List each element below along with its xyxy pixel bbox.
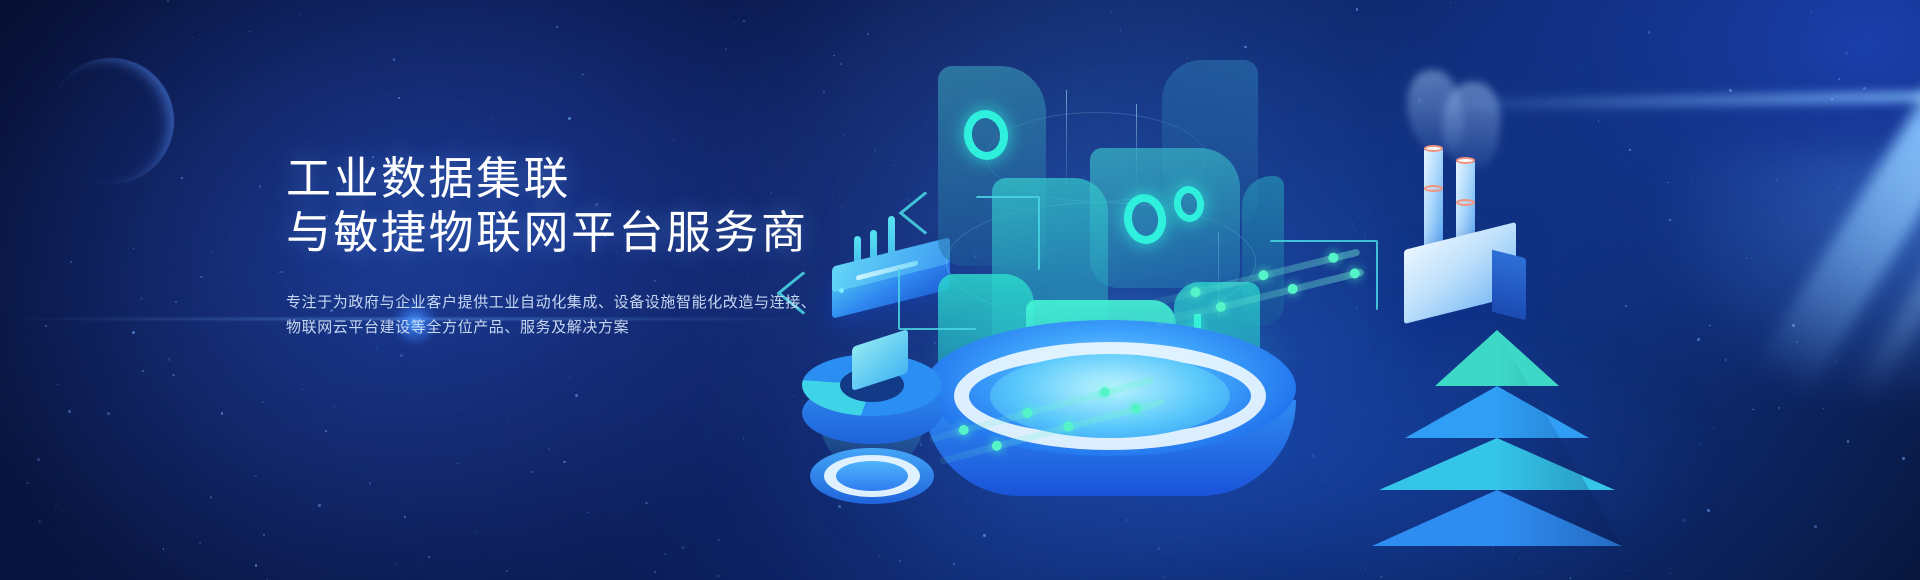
star bbox=[743, 20, 745, 22]
star bbox=[725, 48, 727, 50]
star bbox=[168, 358, 170, 360]
star bbox=[743, 438, 744, 439]
crescent-arc-icon bbox=[48, 58, 174, 184]
hero-subtitle: 专注于为政府与企业客户提供工业自动化集成、设备设施智能化改造与连接、 物联网云平… bbox=[286, 290, 926, 340]
star bbox=[198, 501, 199, 502]
star bbox=[491, 117, 492, 118]
star bbox=[199, 542, 201, 544]
headline-line-2: 与敏捷物联网平台服务商 bbox=[286, 207, 809, 258]
star bbox=[55, 505, 57, 507]
stepped-pyramid bbox=[1372, 330, 1622, 580]
star bbox=[673, 140, 674, 141]
headline-line-1: 工业数据集联 bbox=[286, 153, 571, 204]
page-title: 工业数据集联 与敏捷物联网平台服务商 bbox=[286, 152, 926, 260]
star bbox=[57, 384, 58, 385]
star bbox=[172, 374, 175, 377]
star bbox=[68, 410, 71, 413]
star bbox=[163, 548, 164, 549]
hero-banner: 工业数据集联 与敏捷物联网平台服务商 专注于为政府与企业客户提供工业自动化集成、… bbox=[0, 0, 1920, 580]
hero-copy: 工业数据集联 与敏捷物联网平台服务商 专注于为政府与企业客户提供工业自动化集成、… bbox=[286, 152, 926, 340]
star bbox=[279, 272, 280, 273]
platform-disc bbox=[924, 320, 1296, 496]
star bbox=[107, 412, 110, 415]
star bbox=[575, 394, 578, 397]
star bbox=[221, 412, 223, 414]
star bbox=[212, 251, 214, 253]
star bbox=[734, 22, 735, 23]
star bbox=[263, 534, 265, 536]
smokestack-band-2 bbox=[1456, 199, 1475, 206]
star bbox=[70, 261, 72, 263]
star bbox=[37, 458, 39, 460]
star bbox=[346, 40, 347, 41]
star bbox=[175, 301, 176, 302]
star bbox=[262, 401, 263, 402]
star bbox=[80, 218, 81, 219]
star bbox=[664, 553, 666, 555]
star bbox=[333, 406, 335, 408]
star bbox=[548, 448, 550, 450]
star bbox=[393, 58, 395, 60]
sensor-pad-core bbox=[836, 461, 908, 491]
smokestack-cap-2 bbox=[1456, 157, 1475, 164]
star bbox=[254, 475, 257, 478]
star bbox=[428, 556, 430, 558]
smokestack-band-1 bbox=[1424, 185, 1443, 192]
star bbox=[476, 531, 477, 532]
star bbox=[718, 539, 720, 541]
pie-chart-widget bbox=[802, 336, 942, 466]
star bbox=[210, 496, 213, 499]
star bbox=[545, 549, 546, 550]
star bbox=[133, 248, 134, 249]
star bbox=[400, 354, 403, 357]
star bbox=[376, 346, 378, 348]
star bbox=[300, 14, 301, 15]
star bbox=[579, 366, 581, 368]
star bbox=[568, 117, 571, 120]
star bbox=[142, 370, 144, 372]
star bbox=[318, 504, 320, 506]
star bbox=[556, 26, 558, 28]
star bbox=[259, 185, 262, 188]
star bbox=[717, 575, 720, 578]
star bbox=[457, 463, 458, 464]
star bbox=[582, 74, 583, 75]
star bbox=[200, 276, 203, 279]
star bbox=[396, 563, 397, 564]
sensor-pad bbox=[810, 448, 934, 504]
star bbox=[249, 31, 250, 32]
star bbox=[371, 342, 372, 343]
star bbox=[530, 471, 532, 473]
star bbox=[654, 571, 656, 573]
star bbox=[302, 389, 303, 390]
smokestack-cap-1 bbox=[1424, 145, 1443, 152]
subtitle-line-2: 物联网云平台建设等全方位产品、服务及解决方案 bbox=[286, 319, 629, 336]
star bbox=[45, 325, 47, 327]
star bbox=[404, 516, 406, 518]
connector-wire-2 bbox=[976, 196, 1040, 270]
star bbox=[38, 520, 41, 523]
star bbox=[132, 331, 135, 334]
star bbox=[26, 482, 29, 485]
star bbox=[506, 570, 508, 572]
factory-base-side bbox=[1492, 250, 1526, 320]
star bbox=[325, 430, 327, 432]
hero-illustration bbox=[780, 0, 1920, 580]
disc-core bbox=[990, 354, 1230, 438]
star bbox=[569, 377, 571, 379]
star bbox=[369, 482, 372, 485]
star bbox=[397, 460, 398, 461]
star bbox=[255, 564, 258, 567]
star bbox=[563, 461, 566, 464]
star bbox=[24, 216, 25, 217]
star bbox=[645, 502, 648, 505]
star bbox=[140, 297, 143, 300]
factory-smokestacks bbox=[1380, 78, 1610, 338]
star bbox=[341, 127, 343, 129]
star bbox=[181, 177, 183, 179]
subtitle-line-1: 专注于为政府与企业客户提供工业自动化集成、设备设施智能化改造与连接、 bbox=[286, 294, 816, 311]
star bbox=[289, 482, 290, 483]
star bbox=[398, 97, 400, 99]
star bbox=[682, 546, 684, 548]
star bbox=[192, 37, 193, 38]
star bbox=[588, 512, 589, 513]
star bbox=[507, 419, 509, 421]
star bbox=[280, 271, 283, 274]
star bbox=[167, 0, 169, 2]
star bbox=[443, 19, 444, 20]
